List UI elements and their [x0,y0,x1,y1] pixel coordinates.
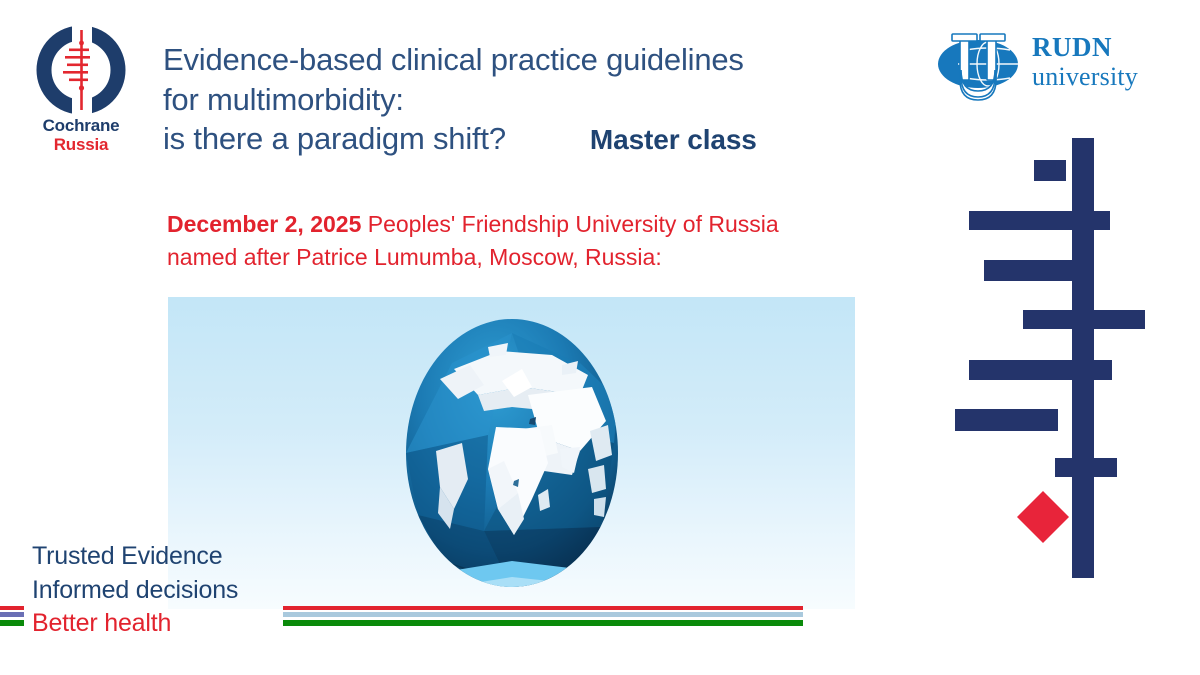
cochrane-region: Russia [22,135,140,154]
cochrane-forest-plot-icon [36,26,126,114]
stripe-green [283,620,803,626]
stripe-green [0,620,24,626]
forest-axis [1072,138,1094,578]
title-line-3: is there a paradigm shift? [163,119,506,159]
stripe-red [283,606,803,610]
event-venue-line-2: named after Patrice Lumumba, Moscow, Rus… [167,241,907,274]
rudn-name: RUDN [1032,34,1138,61]
page-title: Evidence-based clinical practice guideli… [163,40,923,159]
rudn-globe-u-icon [936,26,1020,102]
cochrane-tagline: Trusted Evidence Informed decisions Bett… [32,540,238,641]
slide-canvas: Cochrane Russia Evidence-based clinical … [0,0,1200,675]
summary-diamond-icon [1017,491,1069,543]
stripe-middle [0,612,24,617]
stripe-rule-right [283,605,803,627]
tagline-line-3: Better health [32,607,238,641]
tagline-line-2: Informed decisions [32,574,238,608]
cochrane-name: Cochrane [22,116,140,135]
event-date: December 2, 2025 [167,211,361,237]
stripe-red [0,606,24,610]
event-details: December 2, 2025 Peoples' Friendship Uni… [167,208,907,273]
tagline-line-1: Trusted Evidence [32,540,238,574]
title-row-3: is there a paradigm shift? Master class [163,119,923,159]
low-poly-globe-image [168,297,855,609]
stripe-rule-left [0,605,24,627]
globe-graphic [392,303,632,603]
forest-plot-graphic [938,138,1186,590]
title-line-1: Evidence-based clinical practice guideli… [163,40,923,80]
stripe-middle [283,612,803,617]
event-venue-line-1: Peoples' Friendship University of Russia [368,211,779,237]
cochrane-logo-caption: Cochrane Russia [22,116,140,154]
title-line-2: for multimorbidity: [163,80,923,120]
cochrane-russia-logo: Cochrane Russia [22,26,140,166]
rudn-wordmark: RUDN university [1032,34,1138,90]
event-line-1: December 2, 2025 Peoples' Friendship Uni… [167,208,907,241]
rudn-university-logo: RUDN university [936,26,1151,104]
master-class-badge: Master class [590,124,757,156]
rudn-subtitle: university [1032,64,1138,90]
